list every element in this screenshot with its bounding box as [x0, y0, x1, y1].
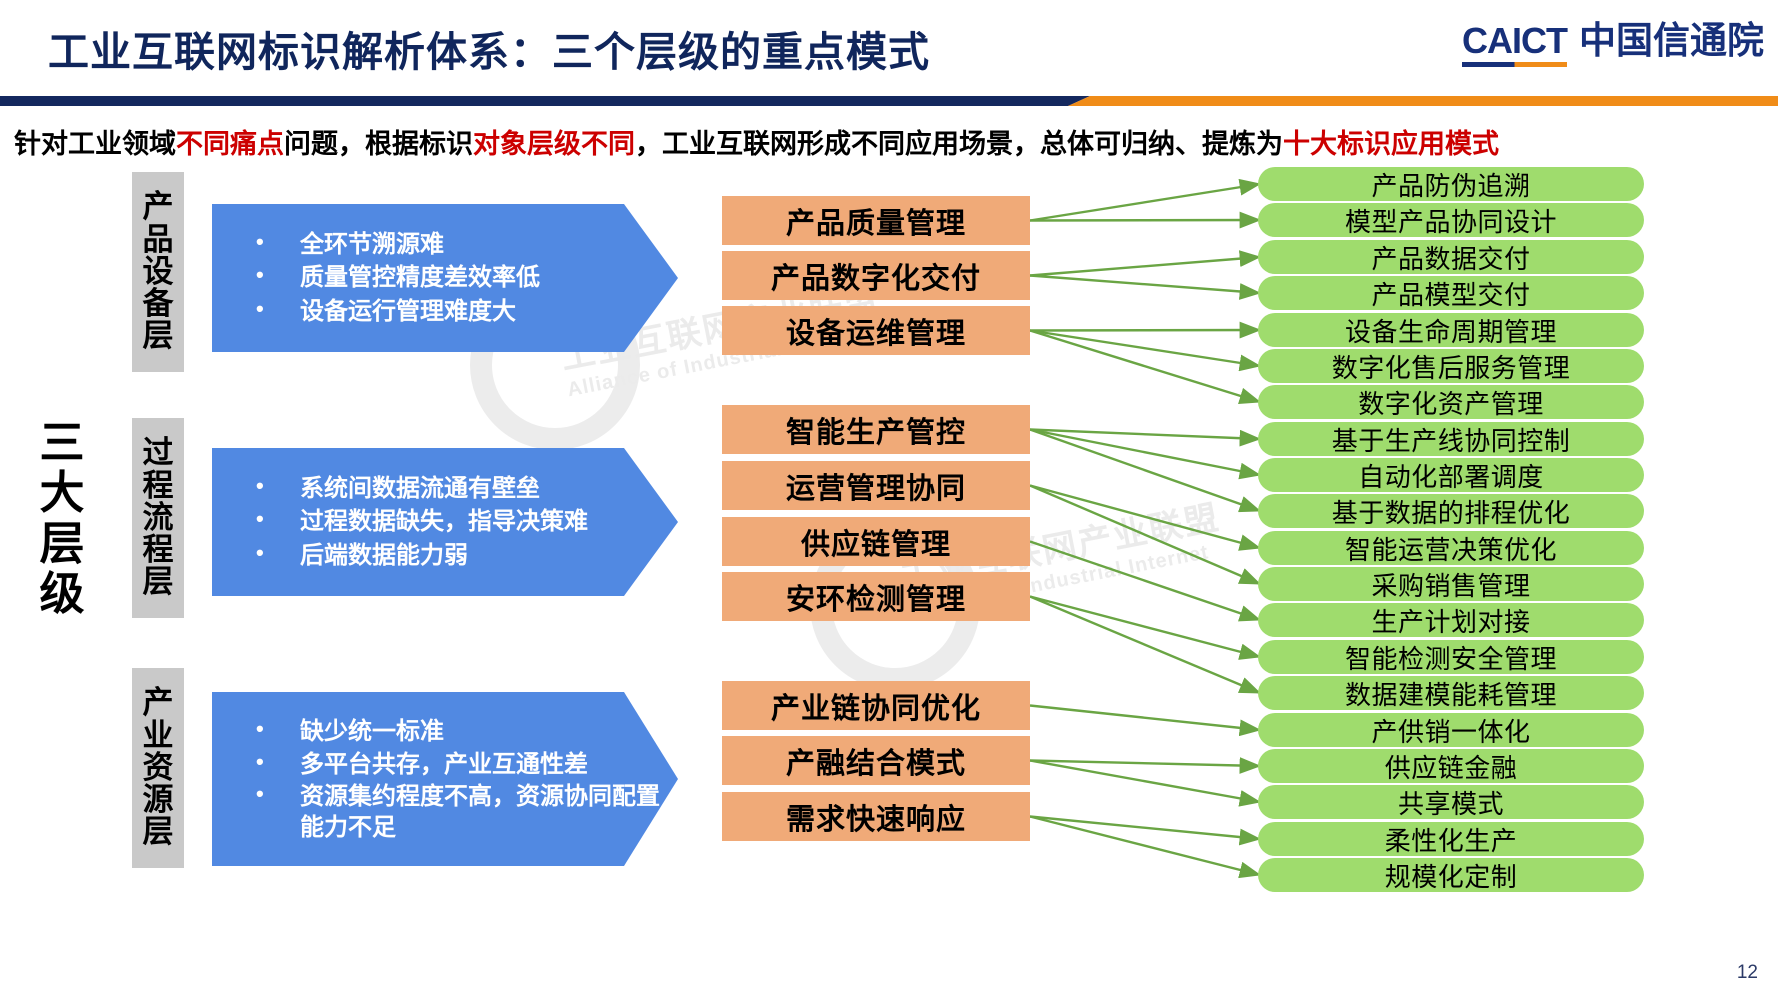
connector-line	[1030, 706, 1260, 731]
connector-line	[1030, 486, 1260, 549]
scenario-pill[interactable]: 供应链金融	[1258, 749, 1644, 783]
pain-points-chevron-1: 系统间数据流通有壁垒 过程数据缺失，指导决策难 后端数据能力弱	[212, 448, 678, 596]
page-number: 12	[1737, 962, 1758, 984]
page-title: 工业互联网标识解析体系：三个层级的重点模式	[48, 18, 930, 78]
pain-point-item: 全环节溯源难	[256, 228, 540, 261]
scenario-pill[interactable]: 产品防伪追溯	[1258, 167, 1644, 201]
header-divider-orange	[1068, 96, 1778, 106]
layer-tab-label-1: 过程流程层	[132, 437, 184, 598]
mode-box[interactable]: 产融结合模式	[722, 736, 1030, 785]
mode-box[interactable]: 运营管理协同	[722, 461, 1030, 510]
scenario-pill[interactable]: 采购销售管理	[1258, 567, 1644, 601]
layer-tab-label-0: 产品设备层	[132, 191, 184, 352]
scenario-pill[interactable]: 产供销一体化	[1258, 713, 1644, 747]
scenario-pill[interactable]: 自动化部署调度	[1258, 458, 1644, 492]
subtitle-part-2: 问题，根据标识	[284, 129, 473, 159]
subtitle-highlight-2: 对象层级不同	[473, 129, 635, 159]
pain-point-list-0: 全环节溯源难 质量管控精度差效率低 设备运行管理难度大	[212, 228, 540, 327]
layers-group-label: 三大层级	[36, 418, 88, 620]
connector-line	[1030, 184, 1260, 221]
connector-line	[1030, 597, 1260, 694]
connector-line	[1030, 331, 1260, 403]
layer-tab-process-flow: 过程流程层	[132, 418, 184, 618]
header-divider-blue	[0, 96, 1090, 106]
layer-tab-label-2: 产业资源层	[132, 687, 184, 848]
pain-point-list-2: 缺少统一标准 多平台共存，产业互通性差 资源集约程度不高，资源协同配置能力不足	[212, 715, 678, 844]
scenario-pill[interactable]: 生产计划对接	[1258, 603, 1644, 637]
scenario-pill[interactable]: 基于数据的排程优化	[1258, 494, 1644, 528]
pain-point-item: 后端数据能力弱	[256, 539, 588, 572]
mode-box[interactable]: 产品质量管理	[722, 196, 1030, 245]
subtitle-part-1: 针对工业领域	[14, 129, 176, 159]
logo-caict-text: CAICT	[1462, 20, 1567, 61]
scenario-pill[interactable]: 共享模式	[1258, 785, 1644, 819]
logo-wordmark-cn: 中国信通院	[1579, 22, 1764, 67]
connector-line	[1030, 276, 1260, 294]
mode-box[interactable]: 产业链协同优化	[722, 681, 1030, 730]
scenario-pill[interactable]: 数字化资产管理	[1258, 385, 1644, 419]
pain-point-item: 设备运行管理难度大	[256, 295, 540, 328]
pain-point-item: 过程数据缺失，指导决策难	[256, 505, 588, 538]
connector-line	[1030, 220, 1260, 221]
header-divider	[0, 96, 1778, 106]
connector-line	[1030, 761, 1260, 767]
pain-point-item: 系统间数据流通有壁垒	[256, 472, 588, 505]
mode-box[interactable]: 设备运维管理	[722, 306, 1030, 355]
pain-points-chevron-2: 缺少统一标准 多平台共存，产业互通性差 资源集约程度不高，资源协同配置能力不足	[212, 692, 678, 866]
connector-line	[1030, 486, 1260, 585]
connector-line	[1030, 430, 1260, 440]
scenario-pill[interactable]: 柔性化生产	[1258, 822, 1644, 856]
mode-box[interactable]: 供应链管理	[722, 517, 1030, 566]
connector-line	[1030, 430, 1260, 476]
pain-point-item: 质量管控精度差效率低	[256, 261, 540, 294]
subtitle-highlight-1: 不同痛点	[176, 129, 284, 159]
mode-box[interactable]: 安环检测管理	[722, 572, 1030, 621]
scenario-pill[interactable]: 数字化售后服务管理	[1258, 349, 1644, 383]
slide-root: 工业互联网产业联盟 Alliance of Industrial Interne…	[0, 0, 1778, 1000]
connector-line	[1030, 331, 1260, 367]
scenario-pill[interactable]: 基于生产线协同控制	[1258, 422, 1644, 456]
scenario-pill[interactable]: 产品模型交付	[1258, 276, 1644, 310]
scenario-pill[interactable]: 设备生命周期管理	[1258, 313, 1644, 347]
scenario-pill[interactable]: 数据建模能耗管理	[1258, 676, 1644, 710]
connector-line	[1030, 430, 1260, 512]
logo-underline	[1462, 62, 1567, 67]
scenario-pill[interactable]: 模型产品协同设计	[1258, 203, 1644, 237]
pain-point-item: 多平台共存，产业互通性差	[256, 748, 678, 781]
scenario-pill[interactable]: 产品数据交付	[1258, 240, 1644, 274]
pain-point-item: 缺少统一标准	[256, 715, 678, 748]
mode-box[interactable]: 产品数字化交付	[722, 251, 1030, 300]
connector-line	[1030, 817, 1260, 876]
scenario-pill[interactable]: 规模化定制	[1258, 858, 1644, 892]
scenario-pill[interactable]: 智能检测安全管理	[1258, 640, 1644, 674]
connector-line	[1030, 542, 1260, 621]
mode-box[interactable]: 智能生产管控	[722, 405, 1030, 454]
pain-point-list-1: 系统间数据流通有壁垒 过程数据缺失，指导决策难 后端数据能力弱	[212, 472, 588, 571]
connector-line	[1030, 330, 1260, 331]
layer-tab-product-device: 产品设备层	[132, 172, 184, 372]
pain-point-item: 资源集约程度不高，资源协同配置能力不足	[256, 781, 678, 843]
logo-wordmark-en: CAICT	[1462, 23, 1567, 67]
layer-tab-industry-resource: 产业资源层	[132, 668, 184, 868]
caict-logo: CAICT 中国信通院	[1462, 22, 1764, 67]
scenario-pill[interactable]: 智能运营决策优化	[1258, 531, 1644, 565]
connector-line	[1030, 597, 1260, 658]
subtitle: 针对工业领域不同痛点问题，根据标识对象层级不同，工业互联网形成不同应用场景，总体…	[14, 122, 1499, 161]
connector-line	[1030, 817, 1260, 840]
subtitle-highlight-3: 十大标识应用模式	[1283, 129, 1499, 159]
subtitle-part-3: ，工业互联网形成不同应用场景，总体可归纳、提炼为	[635, 129, 1283, 159]
pain-points-chevron-0: 全环节溯源难 质量管控精度差效率低 设备运行管理难度大	[212, 204, 678, 352]
connector-line	[1030, 761, 1260, 803]
connector-line	[1030, 257, 1260, 276]
mode-box[interactable]: 需求快速响应	[722, 792, 1030, 841]
